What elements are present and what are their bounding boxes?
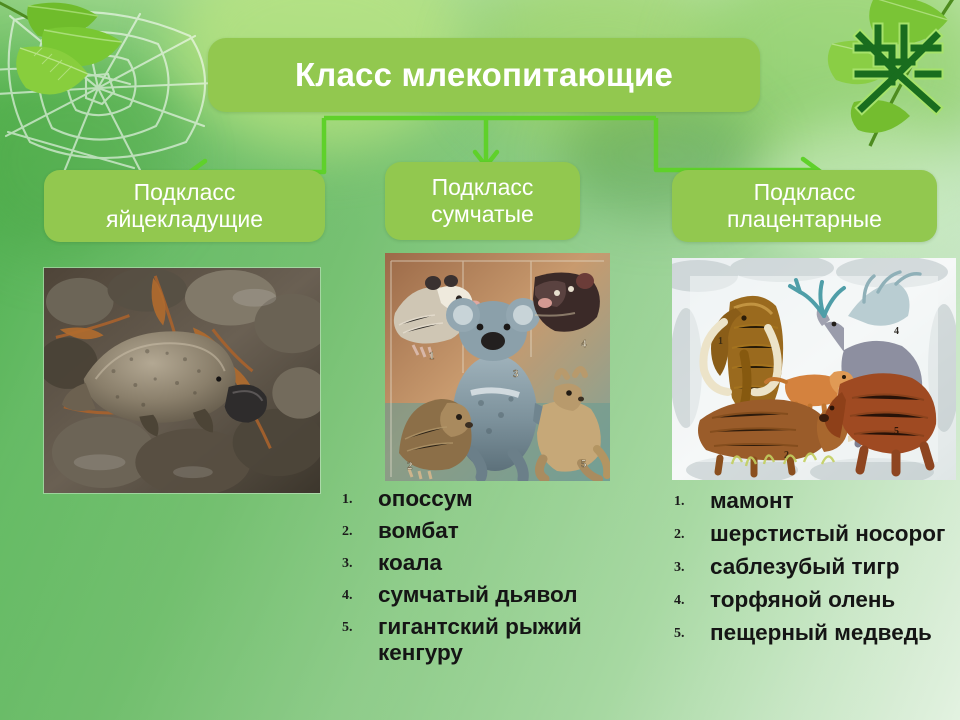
list-item: 3. коала	[336, 550, 636, 576]
list-item-label: пещерный медведь	[710, 620, 932, 645]
svg-text:1: 1	[718, 336, 723, 347]
list-item: 1. мамонт	[668, 488, 960, 514]
slide-canvas: Класс млекопитающие Подкласс яйцекладущи…	[0, 0, 960, 720]
list-item: 1. опоссум	[336, 486, 636, 512]
placentals-list: 1. мамонт 2. шерстистый носорог 3. сабле…	[668, 488, 960, 653]
svg-text:2: 2	[407, 460, 413, 472]
list-item-number: 4.	[342, 588, 353, 604]
list-item-number: 5.	[674, 626, 685, 642]
list-item-label: торфяной олень	[710, 587, 895, 612]
list-item: 3. саблезубый тигр	[668, 554, 960, 580]
marsupials-list: 1. опоссум 2. вомбат 3. коала 4. сумчаты…	[336, 486, 636, 673]
list-item-label: коала	[378, 550, 442, 575]
svg-text:5: 5	[581, 458, 587, 470]
list-item-number: 1.	[342, 492, 353, 508]
platypus-photo	[43, 267, 321, 494]
list-item: 5. гигантский рыжий кенгуру	[336, 614, 636, 666]
svg-text:3: 3	[513, 368, 519, 380]
leaf-icon	[0, 0, 164, 126]
list-item-label: шерстистый носорог	[710, 521, 945, 546]
list-item-number: 4.	[674, 593, 685, 609]
list-item: 5. пещерный медведь	[668, 620, 960, 646]
list-item-label: сумчатый дьявол	[378, 582, 578, 607]
svg-text:5: 5	[894, 426, 899, 437]
list-item: 2. вомбат	[336, 518, 636, 544]
list-item: 4. торфяной олень	[668, 587, 960, 613]
list-item-number: 2.	[674, 527, 685, 543]
placentals-collage: 1	[672, 258, 956, 480]
list-item-label: вомбат	[378, 518, 459, 543]
list-item-number: 3.	[342, 556, 353, 572]
svg-text:1: 1	[429, 350, 435, 362]
list-item-label: гигантский рыжий кенгуру	[378, 614, 582, 665]
celtic-knot-icon	[848, 18, 948, 118]
list-item-number: 3.	[674, 560, 685, 576]
subclass-box-marsupials: Подкласс сумчатые	[385, 162, 580, 240]
list-item-number: 5.	[342, 620, 353, 636]
subclass-box-egg-laying: Подкласс яйцекладущие	[44, 170, 325, 242]
leaf-icon	[814, 0, 960, 150]
page-title: Класс млекопитающие	[208, 38, 760, 112]
list-item-label: опоссум	[378, 486, 473, 511]
marsupials-collage: 1 3	[385, 253, 610, 481]
list-item-number: 1.	[674, 494, 685, 510]
list-item-number: 2.	[342, 524, 353, 540]
svg-text:4: 4	[894, 326, 899, 337]
list-item-label: мамонт	[710, 488, 794, 513]
list-item: 4. сумчатый дьявол	[336, 582, 636, 608]
svg-text:4: 4	[581, 338, 587, 350]
subclass-box-placentals: Подкласс плацентарные	[672, 170, 937, 242]
list-item-label: саблезубый тигр	[710, 554, 899, 579]
list-item: 2. шерстистый носорог	[668, 521, 960, 547]
